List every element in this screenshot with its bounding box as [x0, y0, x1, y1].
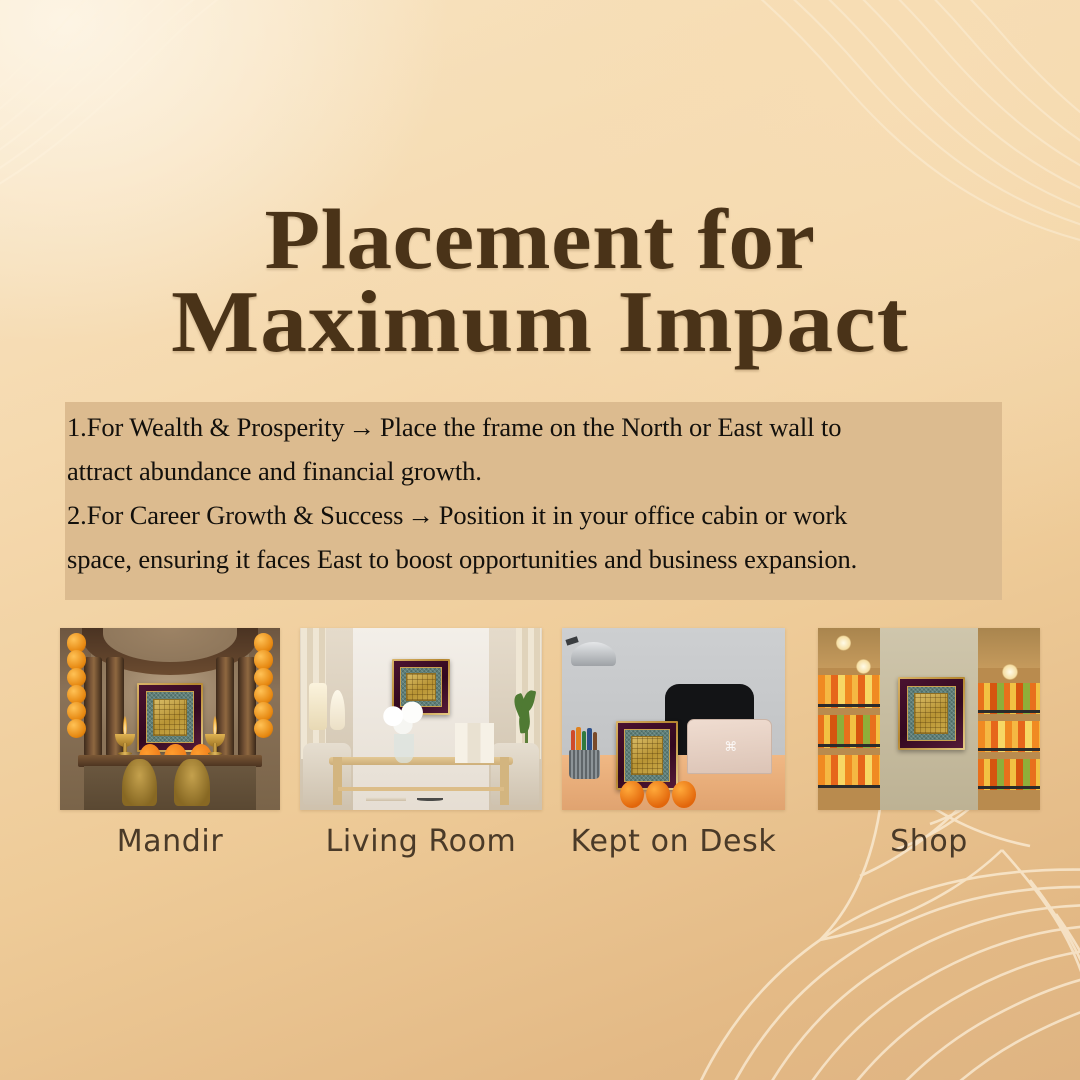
marigold-garland-right-icon: [254, 633, 274, 728]
gallery-card-mandir[interactable]: Mandir: [60, 628, 280, 810]
instruction-item-1-line-1: 1.For Wealth & Prosperity→Place the fram…: [67, 405, 1002, 449]
arrow-right-icon: →: [345, 412, 380, 442]
living-room-photo: [300, 628, 542, 810]
instruction-2-number: 2.: [67, 500, 87, 530]
shop-photo: [818, 628, 1040, 810]
page-title-line-2: Maximum Impact: [0, 281, 1080, 365]
brass-diya-lamp-right-icon: [205, 715, 225, 755]
gallery-caption-living-room: Living Room: [326, 824, 517, 859]
framed-yantra: [898, 677, 965, 750]
desk-lamp-icon: [566, 635, 620, 675]
instruction-2-heading: For Career Growth & Success: [87, 500, 404, 530]
store-shelf-left-icon: [818, 628, 880, 810]
brass-diya-lamp-left-icon: [115, 715, 135, 755]
console-table-icon: [329, 757, 513, 804]
gallery-caption-shop: Shop: [890, 824, 968, 859]
flower-vase-icon: [382, 701, 426, 763]
marigold-flowers-icon: [620, 781, 696, 808]
gallery-card-desk[interactable]: Kept on Desk: [562, 628, 785, 810]
pencil-cup-icon: [569, 732, 600, 779]
framed-yantra: [137, 683, 203, 752]
gallery-card-shop[interactable]: Shop: [818, 628, 1040, 810]
gallery-card-living-room[interactable]: Living Room: [300, 628, 542, 810]
instruction-item-1-line-2: attract abundance and financial growth.: [67, 449, 1002, 493]
desk-photo: [562, 628, 785, 810]
gallery-caption-desk: Kept on Desk: [571, 824, 777, 859]
instruction-2-text-line-1: Position it in your office cabin or work: [439, 500, 847, 530]
poster-canvas: Placement for Maximum Impact 1.For Wealt…: [0, 0, 1080, 1080]
ceiling-light-icon: [1002, 664, 1018, 680]
instruction-1-heading: For Wealth & Prosperity: [87, 412, 345, 442]
store-shelf-right-icon: [978, 628, 1040, 810]
instruction-item-2-line-1: 2.For Career Growth & Success→Position i…: [67, 493, 1002, 537]
page-title-line-1: Placement for: [0, 198, 1080, 281]
lakshmi-statue-icon: [174, 759, 209, 806]
instruction-1-text-line-1: Place the frame on the North or East wal…: [380, 412, 841, 442]
instructions-band: 1.For Wealth & Prosperity→Place the fram…: [65, 402, 1002, 600]
instruction-item-2-line-2: space, ensuring it faces East to boost o…: [67, 537, 1002, 581]
ceiling-light-icon: [836, 635, 852, 651]
page-title: Placement for Maximum Impact: [0, 198, 1080, 365]
laptop-icon: [687, 719, 772, 774]
arrow-right-icon: →: [403, 500, 438, 530]
framed-yantra: [616, 721, 678, 790]
gallery-caption-mandir: Mandir: [117, 824, 224, 859]
ganesha-statue-icon: [122, 759, 157, 806]
mandir-photo: [60, 628, 280, 810]
instruction-1-number: 1.: [67, 412, 87, 442]
candles-icon: [455, 723, 494, 763]
marigold-garland-left-icon: [67, 633, 87, 728]
